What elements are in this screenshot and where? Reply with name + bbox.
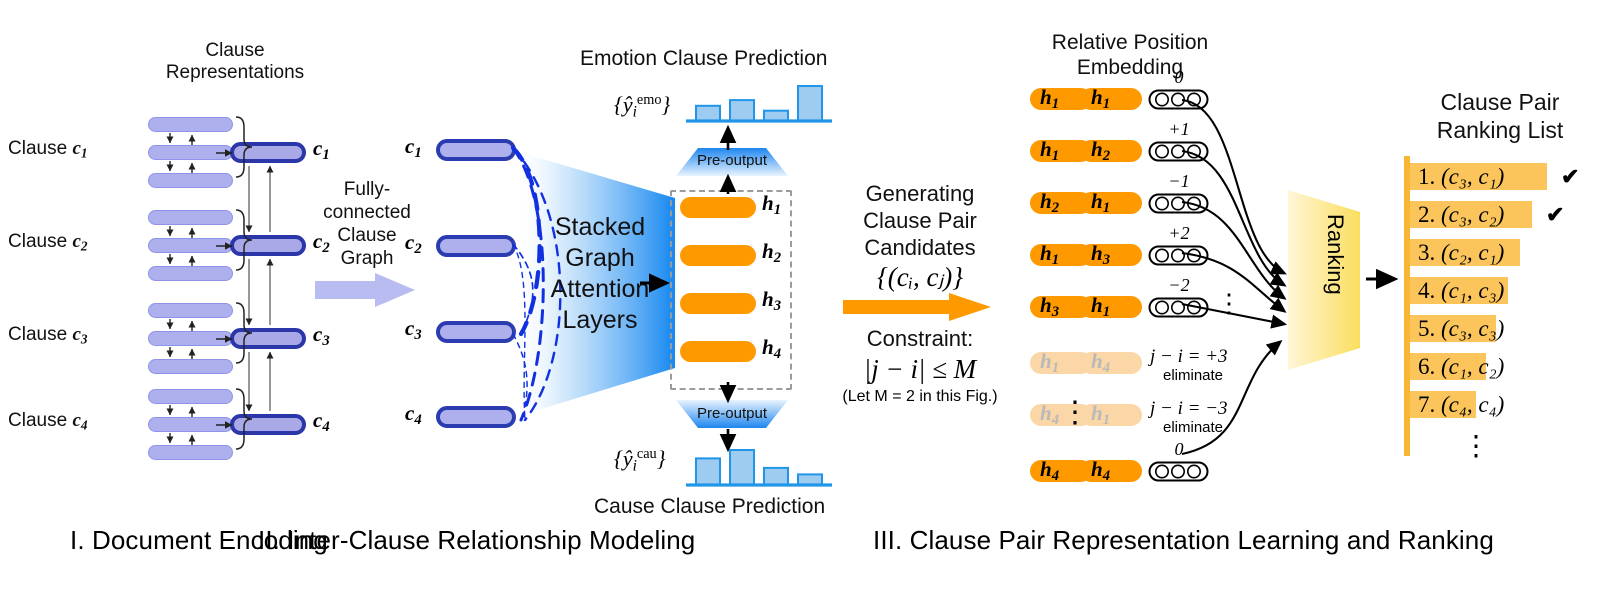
ranking-item-text: 3. (c₂, c₁) xyxy=(1418,240,1504,266)
ranking-item-text: 6. (c₁, c₂) xyxy=(1418,354,1504,380)
correct-pair-check-icon: ✔ xyxy=(1546,202,1564,228)
correct-pair-check-icon: ✔ xyxy=(1561,164,1579,190)
ranking-item-text: 1. (c₃, c₁) xyxy=(1418,164,1504,190)
ranking-item-text: 2. (c₃, c₂) xyxy=(1418,202,1504,228)
figure-canvas: Clause Representations Clause c1 c1 Clau… xyxy=(0,0,1614,590)
ranking-item-text: 7. (c₄, c₄) xyxy=(1418,392,1504,418)
ranking-item-text: 5. (c₃, c₃) xyxy=(1418,316,1504,342)
ranking-item-text: 4. (c₁, c₃) xyxy=(1418,278,1504,304)
caption-section-2: II. Inter-Clause Relationship Modeling xyxy=(258,525,695,556)
caption-section-3: III. Clause Pair Representation Learning… xyxy=(873,525,1494,556)
ranking-list-trailing-dots: ⋮ xyxy=(1462,432,1490,460)
ranking-list-items: 1. (c₃, c₁)✔2. (c₃, c₂)✔3. (c₂, c₁)4. (c… xyxy=(0,0,1614,590)
